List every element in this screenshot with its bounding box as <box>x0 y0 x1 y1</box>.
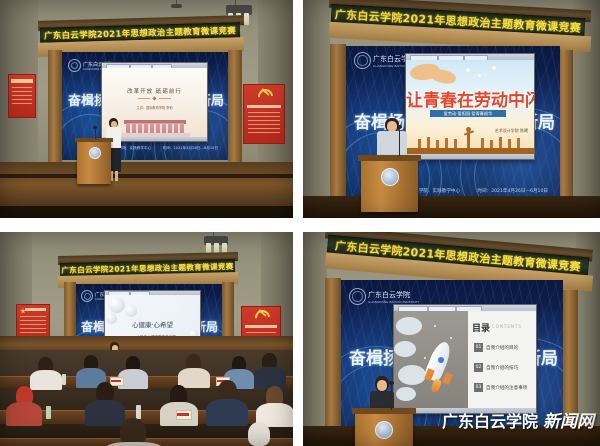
slide-title: 让青春在劳动中闪光 <box>406 86 534 111</box>
projection-screen: 目录 CONTENTS 01 自我介绍的目的 02 自我介绍的技巧 03 自我介… <box>393 304 537 414</box>
water-bottle <box>46 406 51 419</box>
poster-right <box>243 84 285 144</box>
slide-content: 让青春在劳动中闪光 爱劳动·爱祖国·爱青春韶华 艺术设计学院 陈曦 <box>406 60 534 154</box>
poster-left <box>8 74 36 118</box>
watermark-main: 广东白云学院 <box>442 408 538 432</box>
stage-frame-left <box>48 50 62 180</box>
toc-item: 01 自我介绍的目的 <box>474 343 518 352</box>
panel-bottom-right[interactable]: 广东白云学院2021年思想政治主题教育微课竞赛 广东白云学院 GUANGDONG… <box>303 232 600 446</box>
podium-seal-icon <box>381 168 399 186</box>
watermark: 广东白云学院 新闻网 <box>442 407 594 432</box>
water-bottle <box>136 405 141 419</box>
slide-title: 目录 <box>472 321 490 334</box>
toc-item-label: 自我介绍的注意事项 <box>486 385 527 391</box>
projection-screen: 让青春在劳动中闪光 爱劳动·爱祖国·爱青春韶华 艺术设计学院 陈曦 <box>405 53 535 160</box>
podium <box>355 408 413 446</box>
photo-collage: 广东白云学院2021年思想政治主题教育微课竞赛 广东白云学院 GUANGDONG… <box>0 0 600 446</box>
panel-top-left[interactable]: 广东白云学院2021年思想政治主题教育微课竞赛 广东白云学院 GUANGDONG… <box>0 0 293 218</box>
university-logo-name: 广东白云学院 <box>368 290 419 300</box>
slide-title-en: CONTENTS <box>492 324 522 329</box>
toc-item: 02 自我介绍的技巧 <box>474 363 518 372</box>
stage-floor <box>303 196 600 218</box>
stage-frame-right <box>228 50 242 180</box>
slide-title: 改革开放 砥砺前行 <box>102 87 207 95</box>
panel-bottom-left[interactable]: 广东白云学院2021年思想政治主题教育微课竞赛 广东白云学院 GUANGDONG… <box>0 232 293 446</box>
panel-top-right[interactable]: 广东白云学院2021年思想政治主题教育微课竞赛 广东白云学院 GUANGDONG… <box>303 0 600 218</box>
university-logo-en: GUANGDONG BAIYUN UNIVERSITY <box>368 300 419 304</box>
ceiling-lamp <box>171 4 182 8</box>
led-footer-right: 时间：2021年4月26日—6月10日 <box>477 188 548 194</box>
toc-item-number: 01 <box>474 343 483 352</box>
toc-item-number: 03 <box>474 383 483 392</box>
slide-subtitle: 爱劳动·爱祖国·爱青春韶华 <box>430 110 506 117</box>
slide-content: 目录 CONTENTS 01 自我介绍的目的 02 自我介绍的技巧 03 自我介… <box>394 311 536 408</box>
water-bottle <box>62 374 66 385</box>
microphone-icon <box>397 125 402 129</box>
slide-title: 心健康·心希望 <box>105 319 200 329</box>
watermark-sub: 新闻网 <box>543 407 594 432</box>
toc-item: 03 自我介绍的注意事项 <box>474 383 527 392</box>
slide-byline: 主讲：国际教育学院 李莉 <box>102 105 207 110</box>
university-logo: 广东白云学院 GUANGDONG BAIYUN UNIVERSITY <box>349 288 419 305</box>
podium <box>77 138 111 184</box>
slide-byline: 艺术设计学院 陈曦 <box>495 128 528 134</box>
microphone-icon <box>93 126 97 129</box>
microphone-icon <box>389 381 394 385</box>
toc-item-label: 自我介绍的技巧 <box>486 365 518 371</box>
podium <box>361 155 418 212</box>
podium-seal-icon <box>89 147 101 159</box>
toc-item-label: 自我介绍的目的 <box>486 345 518 351</box>
audience <box>0 350 293 446</box>
audience-head <box>248 422 270 446</box>
led-footer-right: 时间：2021年4月26日—6月10日 <box>163 146 218 151</box>
toc-item-number: 02 <box>474 363 483 372</box>
podium-seal-icon <box>375 421 393 439</box>
